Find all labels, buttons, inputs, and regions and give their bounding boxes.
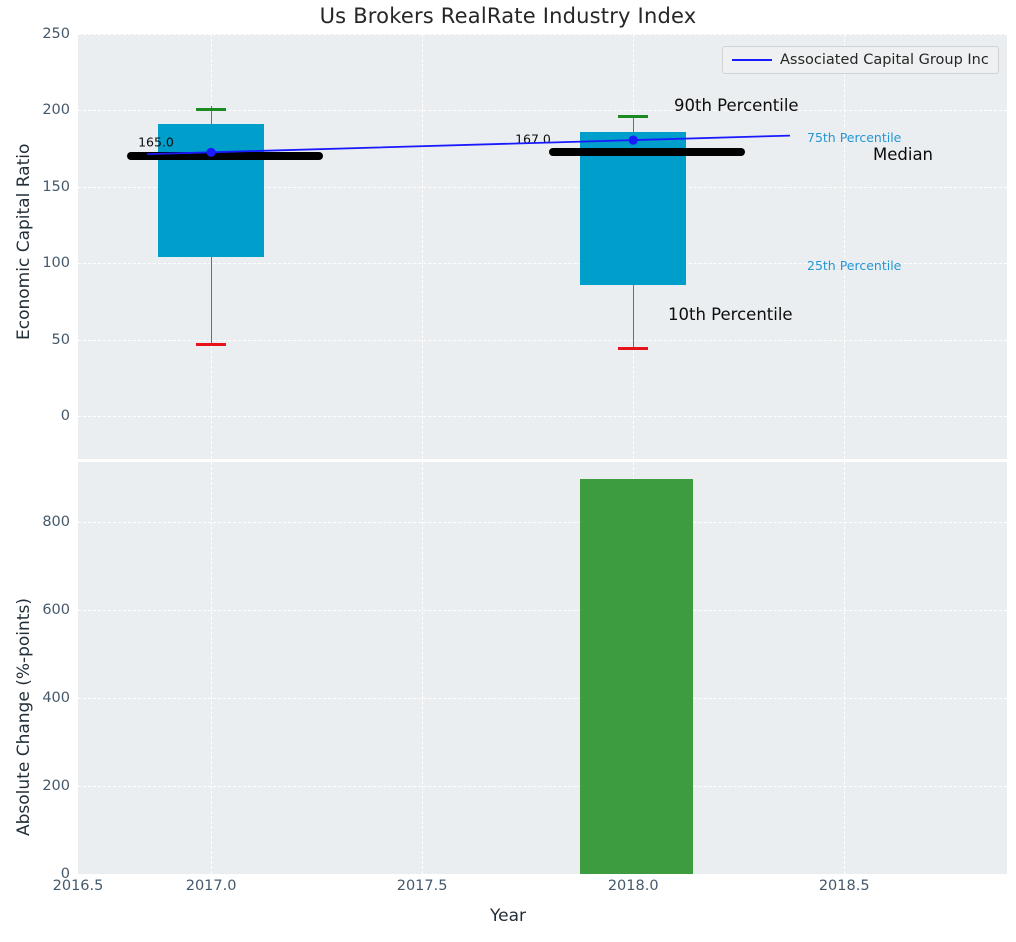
gridline-x-2018-5 [844,462,845,874]
whisker-cap-p10-2017 [196,343,226,346]
page-title: Us Brokers RealRate Industry Index [0,4,1016,28]
gridline-y-200 [78,786,1007,787]
bar-absolute-change-2018 [580,479,693,874]
ytick-top-150: 150 [42,179,70,195]
annotation-25th-percentile: 25th Percentile [807,258,901,273]
median-value-label-2018: 167.0 [515,132,551,147]
xtick-2016-5: 2016.5 [53,878,104,894]
ytick-top-250: 250 [42,26,70,42]
gridline-x-2017-5 [422,34,423,459]
ytick-top-200: 200 [42,102,70,118]
legend-label: Associated Capital Group Inc [780,52,989,68]
gridline-y-400 [78,698,1007,699]
median-line-2018 [549,148,745,156]
annotation-10th-percentile: 10th Percentile [668,305,793,324]
xtick-2018-0: 2018.0 [608,878,659,894]
ytick-bottom-200: 200 [42,778,70,794]
x-axis-label: Year [0,906,1016,926]
median-line-2017 [127,152,323,160]
gridline-y-250 [78,34,1007,35]
plot-panel-absolute-change [78,462,1007,874]
chart-figure: Us Brokers RealRate Industry Index 165.0… [0,0,1016,942]
gridline-y-0 [78,416,1007,417]
gridline-y-0 [78,874,1007,875]
xtick-2017-0: 2017.0 [186,878,237,894]
whisker-cap-p10-2018 [618,347,648,350]
chart-legend[interactable]: Associated Capital Group Inc [722,46,999,74]
ytick-top-0: 0 [61,408,70,424]
ytick-bottom-400: 400 [42,690,70,706]
median-value-label-2017: 165.0 [138,135,174,150]
xtick-2018-5: 2018.5 [819,878,870,894]
gridline-y-200 [78,110,1007,111]
legend-swatch-icon [732,59,772,61]
annotation-median: Median [873,145,933,164]
ytick-bottom-600: 600 [42,602,70,618]
xtick-2017-5: 2017.5 [397,878,448,894]
gridline-x-2017-0 [211,462,212,874]
annotation-90th-percentile: 90th Percentile [674,96,799,115]
plot-panel-economic-capital-ratio: 165.0 167.0 90th Percentile 75th Percent… [78,34,1007,459]
ytick-top-50: 50 [52,332,70,348]
annotation-75th-percentile: 75th Percentile [807,130,901,145]
whisker-cap-p90-2017 [196,108,226,111]
y-axis-label-bottom: Absolute Change (%-points) [14,598,34,836]
ytick-top-100: 100 [42,255,70,271]
gridline-y-800 [78,522,1007,523]
gridline-x-2018-5 [844,34,845,459]
whisker-cap-p90-2018 [618,115,648,118]
gridline-y-600 [78,610,1007,611]
y-axis-label-top: Economic Capital Ratio [14,144,34,340]
gridline-x-2017-5 [422,462,423,874]
gridline-y-50 [78,340,1007,341]
ytick-bottom-800: 800 [42,514,70,530]
